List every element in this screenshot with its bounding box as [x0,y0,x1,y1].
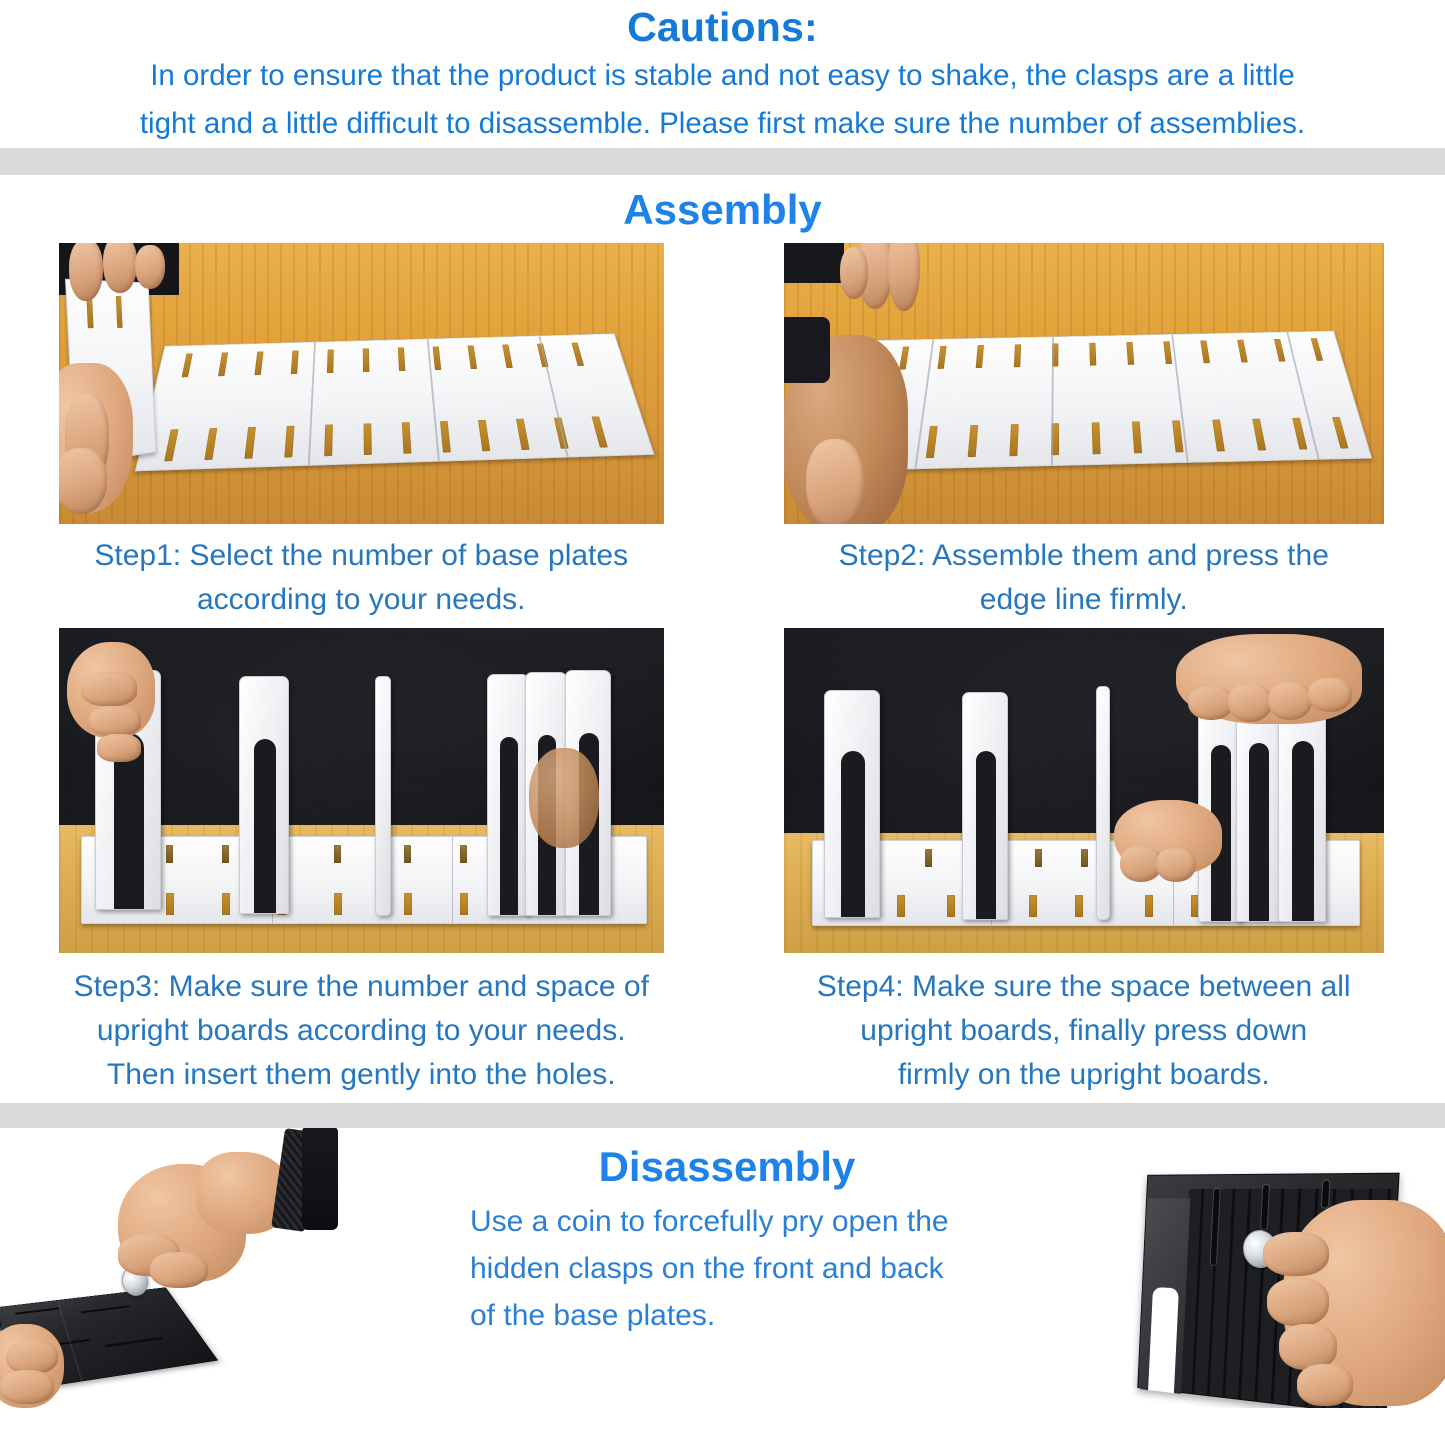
step3-caption-line-1: Step3: Make sure the number and space of [74,965,649,1009]
step4-upright-board-3 [1096,686,1110,920]
assembly-step-3: Step3: Make sure the number and space of… [0,628,723,1103]
step1-caption: Step1: Select the number of base plates … [88,524,634,628]
cautions-section: Cautions: In order to ensure that the pr… [0,0,1445,148]
step4-caption-line-1: Step4: Make sure the space between all [817,965,1351,1009]
step2-caption-line-1: Step2: Assemble them and press the [839,534,1329,578]
disassembly-body-line-3: of the base plates. [470,1292,1022,1339]
step3-upright-board-4 [487,674,529,916]
assembly-row-2: Step3: Make sure the number and space of… [0,628,1445,1103]
step3-caption-line-3: Then insert them gently into the holes. [74,1053,649,1097]
assembly-title: Assembly [0,175,1445,243]
step4-upright-board-2 [962,692,1008,920]
instruction-infographic: Cautions: In order to ensure that the pr… [0,0,1445,1431]
step3-upright-board-2 [239,676,289,914]
step2-caption: Step2: Assemble them and press the edge … [833,524,1335,628]
step3-photo [59,628,664,953]
step4-caption-line-2: upright boards, finally press down [817,1009,1351,1053]
assembly-step-4: Step4: Make sure the space between all u… [723,628,1445,1103]
step1-caption-line-2: according to your needs. [94,578,628,622]
disassembly-photo-left [0,1128,425,1422]
step1-caption-line-1: Step1: Select the number of base plates [94,534,628,578]
step3-upright-board-3 [375,676,391,916]
step4-caption-line-3: firmly on the upright boards. [817,1053,1351,1097]
disassembly-photo-right [1115,1158,1445,1408]
step2-caption-line-2: edge line firmly. [839,578,1329,622]
step4-photo [784,628,1384,953]
disassembly-text: Disassembly Use a coin to forcefully pry… [432,1136,1022,1339]
step1-photo [59,243,664,524]
disassembly-body: Use a coin to forcefully pry open the hi… [432,1198,1022,1339]
cautions-title: Cautions: [18,2,1427,52]
assembly-row-1: Step1: Select the number of base plates … [0,243,1445,628]
step2-photo [784,243,1384,524]
disassembly-body-line-2: hidden clasps on the front and back [470,1245,1022,1292]
assembly-section: Assembly [0,175,1445,1103]
cautions-body-line-1: In order to ensure that the product is s… [18,52,1427,100]
step1-base-plates [135,333,655,471]
step3-hand-right [529,748,599,848]
assembly-step-2: Step2: Assemble them and press the edge … [723,243,1445,628]
step3-caption-line-2: upright boards according to your needs. [74,1009,649,1053]
disassembly-title: Disassembly [432,1136,1022,1198]
step4-upright-board-1 [824,690,880,918]
step4-caption: Step4: Make sure the space between all u… [811,953,1357,1103]
section-divider-top [0,148,1445,175]
assembly-step-1: Step1: Select the number of base plates … [0,243,723,628]
step3-caption: Step3: Make sure the number and space of… [68,953,655,1103]
cautions-body-line-2: tight and a little difficult to disassem… [18,100,1427,148]
disassembly-body-line-1: Use a coin to forcefully pry open the [470,1198,1022,1245]
section-divider-bottom [0,1103,1445,1128]
disassembly-section: Disassembly Use a coin to forcefully pry… [0,1128,1445,1422]
